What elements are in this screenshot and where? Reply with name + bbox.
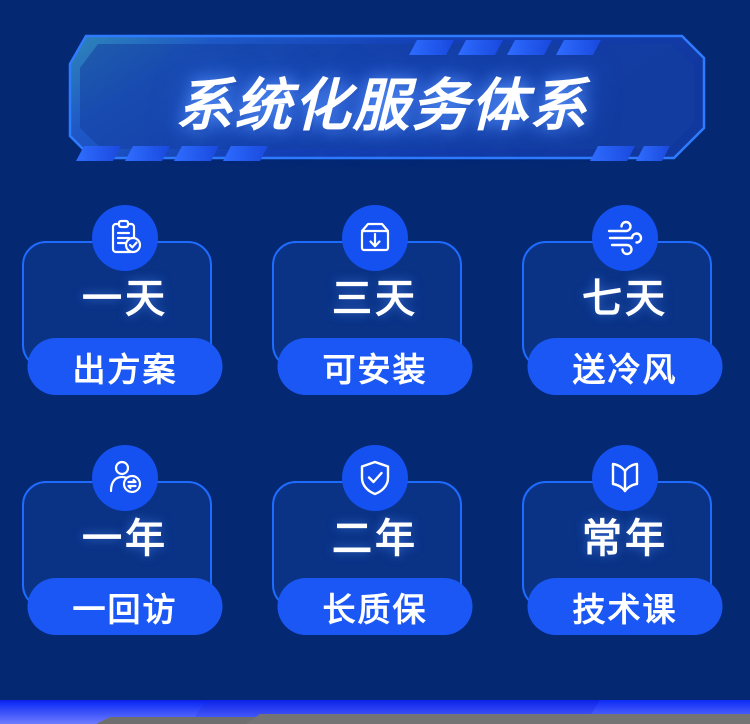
open-book-icon xyxy=(592,445,658,511)
bottom-accent-shape xyxy=(0,690,750,724)
card-title: 七天 xyxy=(500,279,750,319)
card-title: 三天 xyxy=(250,279,500,319)
wind-icon xyxy=(592,205,658,271)
card-pill-label[interactable]: 长质保 xyxy=(278,578,473,635)
clipboard-check-icon xyxy=(92,205,158,271)
page-title: 系统化服务体系 xyxy=(42,28,708,173)
service-card[interactable]: 三天 可安装 xyxy=(250,205,500,417)
service-card[interactable]: 常年 技术课 xyxy=(500,445,750,657)
inbox-download-icon xyxy=(342,205,408,271)
service-card[interactable]: 七天 送冷风 xyxy=(500,205,750,417)
service-card-grid: 一天 出方案 三天 可安装 xyxy=(0,205,750,657)
user-revisit-icon xyxy=(92,445,158,511)
card-pill-label[interactable]: 一回访 xyxy=(28,578,223,635)
banner: 系统化服务体系 xyxy=(42,28,708,173)
card-pill-label[interactable]: 出方案 xyxy=(28,338,223,395)
card-pill-label[interactable]: 技术课 xyxy=(528,578,723,635)
shield-check-icon xyxy=(342,445,408,511)
card-pill-label[interactable]: 可安装 xyxy=(278,338,473,395)
service-card[interactable]: 一年 一回访 xyxy=(0,445,250,657)
card-title: 二年 xyxy=(250,519,500,559)
service-card[interactable]: 一天 出方案 xyxy=(0,205,250,417)
card-pill-label[interactable]: 送冷风 xyxy=(528,338,723,395)
card-title: 一年 xyxy=(0,519,250,559)
card-title: 常年 xyxy=(500,519,750,559)
card-title: 一天 xyxy=(0,279,250,319)
bottom-accent-strip xyxy=(0,690,750,724)
promo-page: 系统化服务体系 一天 出方案 xyxy=(0,0,750,724)
service-card[interactable]: 二年 长质保 xyxy=(250,445,500,657)
